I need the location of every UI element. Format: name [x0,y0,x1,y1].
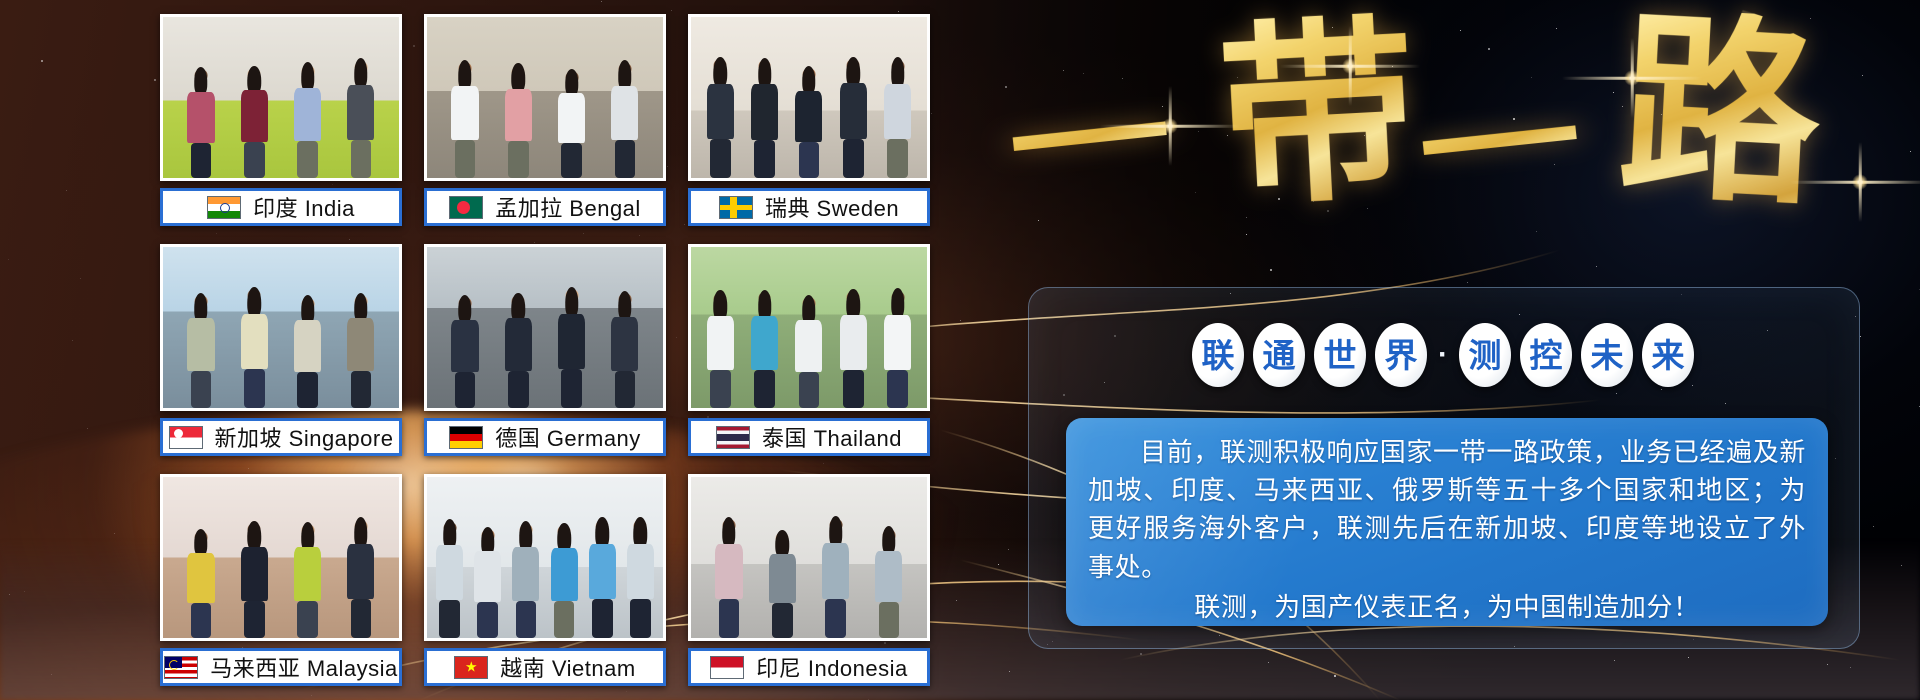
person-silhouette [587,517,618,638]
person-silhouette [549,523,580,638]
country-photo[interactable] [424,14,666,181]
country-label: 瑞典 Sweden [688,188,930,226]
person-silhouette [794,295,825,408]
country-label: 越南 Vietnam [424,648,666,686]
country-label: 德国 Germany [424,418,666,456]
person-silhouette [239,66,270,179]
country-label-text: 新加坡 Singapore [215,421,394,453]
country-photo[interactable] [160,474,402,641]
gallery-item[interactable]: 印度 India [160,14,402,226]
person-silhouette [820,516,851,638]
bangladesh-flag [449,196,483,219]
headline-char-4: 路 [1615,7,1825,217]
person-silhouette [186,293,217,408]
photo-people [163,56,399,178]
slogan-row: 联通世界·测控未来 [1028,318,1858,392]
person-silhouette [883,57,914,178]
germany-flag [449,426,483,449]
person-silhouette [767,530,798,638]
photo-people [691,286,927,408]
country-label: 印尼 Indonesia [688,648,930,686]
person-silhouette [511,521,542,638]
photo-people [691,56,927,178]
person-silhouette [503,293,534,408]
gallery-item[interactable]: 孟加拉 Bengal [424,14,666,226]
country-label-text: 瑞典 Sweden [765,191,899,223]
description-box: 目前，联测积极响应国家一带一路政策，业务已经遍及新加坡、印度、马来西亚、俄罗斯等… [1066,418,1828,626]
person-silhouette [186,67,217,178]
country-photo[interactable] [688,474,930,641]
person-silhouette [239,287,270,408]
country-label-text: 越南 Vietnam [500,651,635,683]
gallery-item[interactable]: 马来西亚 Malaysia [160,474,402,686]
person-silhouette [883,288,914,408]
singapore-flag [169,426,203,449]
country-label: 孟加拉 Bengal [424,188,666,226]
country-photo[interactable] [424,244,666,411]
person-silhouette [794,66,825,178]
country-label-text: 德国 Germany [495,421,641,453]
person-silhouette [346,517,377,638]
photo-people [427,516,663,638]
description-paragraph-1: 目前，联测积极响应国家一带一路政策，业务已经遍及新加坡、印度、马来西亚、俄罗斯等… [1088,434,1806,587]
person-silhouette [705,57,736,178]
vietnam-flag [454,656,488,679]
photo-people [427,56,663,178]
country-label-text: 孟加拉 Bengal [495,191,641,223]
indonesia-flag [710,656,744,679]
country-label-text: 泰国 Thailand [762,421,902,453]
person-silhouette [473,527,504,638]
person-silhouette [714,517,745,638]
malaysia-flag [164,656,198,679]
country-label: 马来西亚 Malaysia [160,648,402,686]
slogan-char-1: 联 [1192,323,1244,387]
person-silhouette [556,287,587,408]
headline-calligraphy: 一 带 一 路 [1020,6,1900,221]
person-silhouette [292,295,323,408]
country-photo-grid: 印度 India孟加拉 Bengal瑞典 Sweden新加坡 Singapore… [160,14,930,686]
person-silhouette [874,526,905,638]
person-silhouette [450,60,481,178]
photo-people [691,516,927,638]
person-silhouette [450,295,481,408]
headline-char-1: 一 [1003,74,1177,210]
slogan-char-2: 通 [1253,323,1305,387]
country-label: 泰国 Thailand [688,418,930,456]
country-photo[interactable] [160,14,402,181]
person-silhouette [239,521,270,638]
slogan-char-6: 测 [1459,323,1511,387]
person-silhouette [610,291,641,408]
gallery-item[interactable]: 越南 Vietnam [424,474,666,686]
slogan-char-7: 控 [1520,323,1572,387]
country-photo[interactable] [424,474,666,641]
person-silhouette [838,57,869,178]
slogan-separator: · [1436,338,1450,372]
gallery-item[interactable]: 泰国 Thailand [688,244,930,456]
slogan-char-4: 界 [1375,323,1427,387]
gallery-item[interactable]: 印尼 Indonesia [688,474,930,686]
person-silhouette [503,63,534,178]
person-silhouette [705,290,736,408]
country-photo[interactable] [688,14,930,181]
person-silhouette [610,60,641,178]
gallery-item[interactable]: 瑞典 Sweden [688,14,930,226]
gallery-item[interactable]: 德国 Germany [424,244,666,456]
person-silhouette [346,58,377,178]
person-silhouette [292,62,323,178]
person-silhouette [749,290,780,408]
headline-char-2: 带 [1215,11,1421,217]
person-silhouette [292,522,323,638]
country-label: 新加坡 Singapore [160,418,402,456]
person-silhouette [625,517,656,638]
slogan-char-9: 来 [1642,323,1694,387]
country-photo[interactable] [160,244,402,411]
country-label: 印度 India [160,188,402,226]
india-flag [207,196,241,219]
photo-people [163,516,399,638]
photo-people [427,286,663,408]
person-silhouette [186,529,217,638]
person-silhouette [749,58,780,178]
person-silhouette [434,519,465,638]
photo-people [163,286,399,408]
country-photo[interactable] [688,244,930,411]
country-label-text: 马来西亚 Malaysia [210,651,397,683]
country-label-text: 印尼 Indonesia [756,651,908,683]
person-silhouette [346,293,377,408]
sweden-flag [719,196,753,219]
gallery-item[interactable]: 新加坡 Singapore [160,244,402,456]
headline-char-3: 一 [1413,78,1587,214]
thailand-flag [716,426,750,449]
slogan-char-3: 世 [1314,323,1366,387]
country-label-text: 印度 India [253,191,355,223]
description-paragraph-2: 联测，为国产仪表正名，为中国制造加分！ [1088,589,1806,627]
slogan-char-8: 未 [1581,323,1633,387]
person-silhouette [556,69,587,178]
banner-stage: 印度 India孟加拉 Bengal瑞典 Sweden新加坡 Singapore… [0,0,1920,700]
person-silhouette [838,289,869,408]
